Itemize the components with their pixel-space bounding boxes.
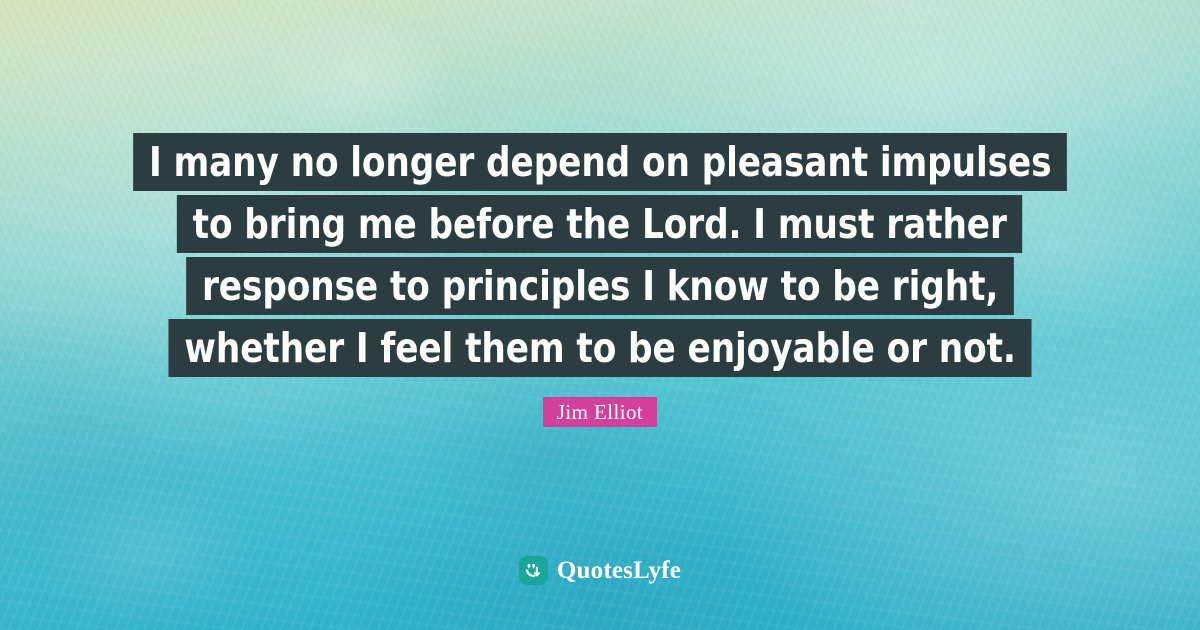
quote-text-block: I many no longer depend on pleasant impu… [98,133,1102,377]
brand-name: QuotesLyfe [557,557,681,585]
quote-line: to bring me before the Lord. I must rath… [177,195,1023,253]
quote-card: I many no longer depend on pleasant impu… [0,0,1200,630]
quote-author-badge: Jim Elliot [543,397,657,427]
quote-smiley-icon [519,556,548,585]
quote-content: I many no longer depend on pleasant impu… [0,0,1200,630]
brand-watermark: QuotesLyfe [0,556,1200,585]
quote-line: response to principles I know to be righ… [186,257,1014,315]
quote-line: whether I feel them to be enjoyable or n… [168,319,1031,377]
quote-line: I many no longer depend on pleasant impu… [133,133,1067,191]
